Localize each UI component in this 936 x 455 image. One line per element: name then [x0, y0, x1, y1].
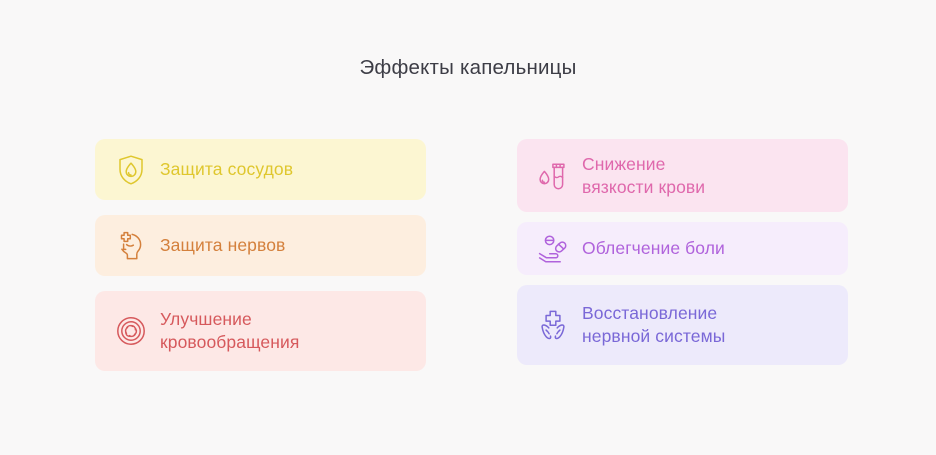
- card-nerve-protection[interactable]: Защита нервов: [95, 215, 426, 276]
- benefits-card-grid: Защита сосудов Защита нервов: [95, 139, 848, 371]
- test-tube-droplet-icon: [535, 158, 571, 194]
- card-label: Восстановление нервной системы: [582, 302, 725, 348]
- card-pain-relief[interactable]: Облегчение боли: [517, 222, 848, 275]
- card-vessel-protection[interactable]: Защита сосудов: [95, 139, 426, 200]
- card-label: Облегчение боли: [582, 237, 725, 260]
- page-title: Эффекты капельницы: [0, 56, 936, 80]
- card-nervous-system-recovery[interactable]: Восстановление нервной системы: [517, 285, 848, 365]
- card-label: Улучшение кровообращения: [160, 308, 299, 354]
- hand-pills-icon: [535, 231, 571, 267]
- card-label: Снижение вязкости крови: [582, 153, 705, 199]
- card-blood-viscosity[interactable]: Снижение вязкости крови: [517, 139, 848, 212]
- shield-droplet-icon: [113, 152, 149, 188]
- card-label: Защита сосудов: [160, 158, 293, 181]
- card-label: Защита нервов: [160, 234, 285, 257]
- blood-circulation-icon: [113, 313, 149, 349]
- card-blood-circulation[interactable]: Улучшение кровообращения: [95, 291, 426, 371]
- head-cross-icon: [113, 228, 149, 264]
- hands-cross-icon: [535, 307, 571, 343]
